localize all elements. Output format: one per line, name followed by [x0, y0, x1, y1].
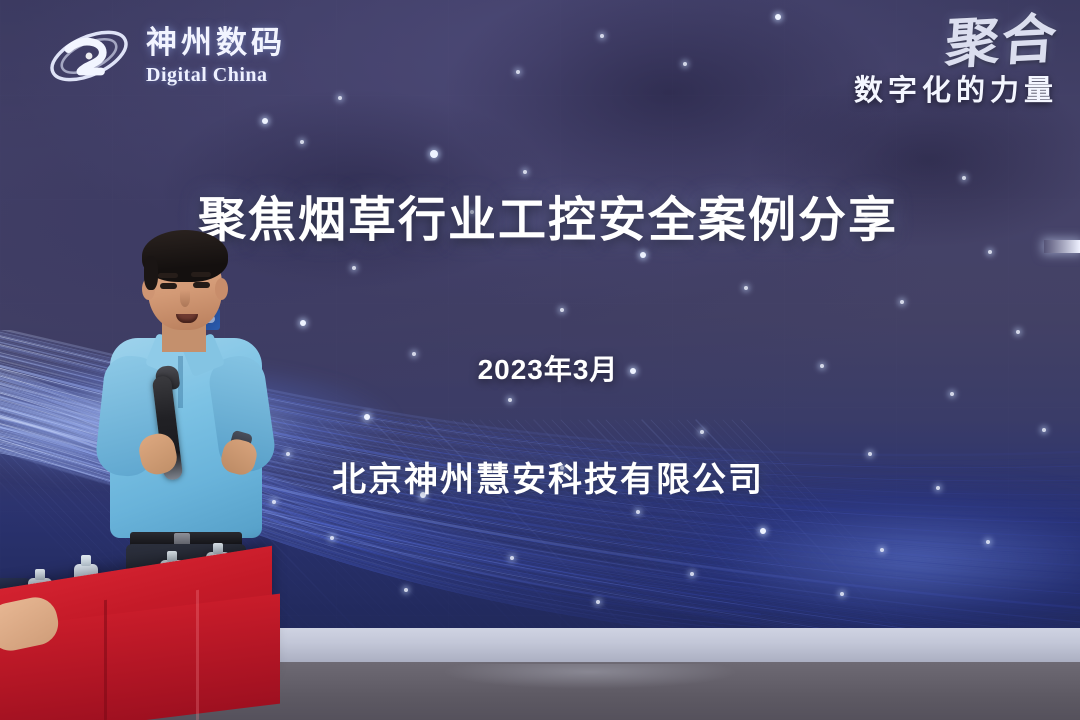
spiral-galaxy-logo-icon — [46, 18, 132, 94]
table-cloth-fold — [104, 600, 107, 720]
brand-logo: 神州数码 Digital China — [46, 18, 286, 94]
speaker-nose — [180, 290, 190, 307]
speaker-ear-right — [215, 278, 228, 300]
speaker-hair — [142, 230, 228, 282]
brand-name-cn: 神州数码 — [146, 27, 286, 58]
brand-name-en: Digital China — [146, 65, 286, 85]
floor-reflection — [380, 664, 800, 704]
speaker-eye-right — [193, 282, 210, 288]
table-cloth-fold — [196, 590, 199, 720]
conference-stage-photo: 神州数码 Digital China 聚合 数字化的力量 聚焦烟草行业工控安全案… — [0, 0, 1080, 720]
speaker-eye-left — [160, 283, 177, 289]
brand-logo-text: 神州数码 Digital China — [146, 27, 286, 85]
calligraphy-brush-text: 聚合 — [851, 14, 1060, 76]
event-calligraphy: 聚合 数字化的力量 — [854, 14, 1058, 109]
speaker-eyebrow-left — [158, 273, 178, 278]
speaker-eyebrow-right — [191, 272, 211, 277]
